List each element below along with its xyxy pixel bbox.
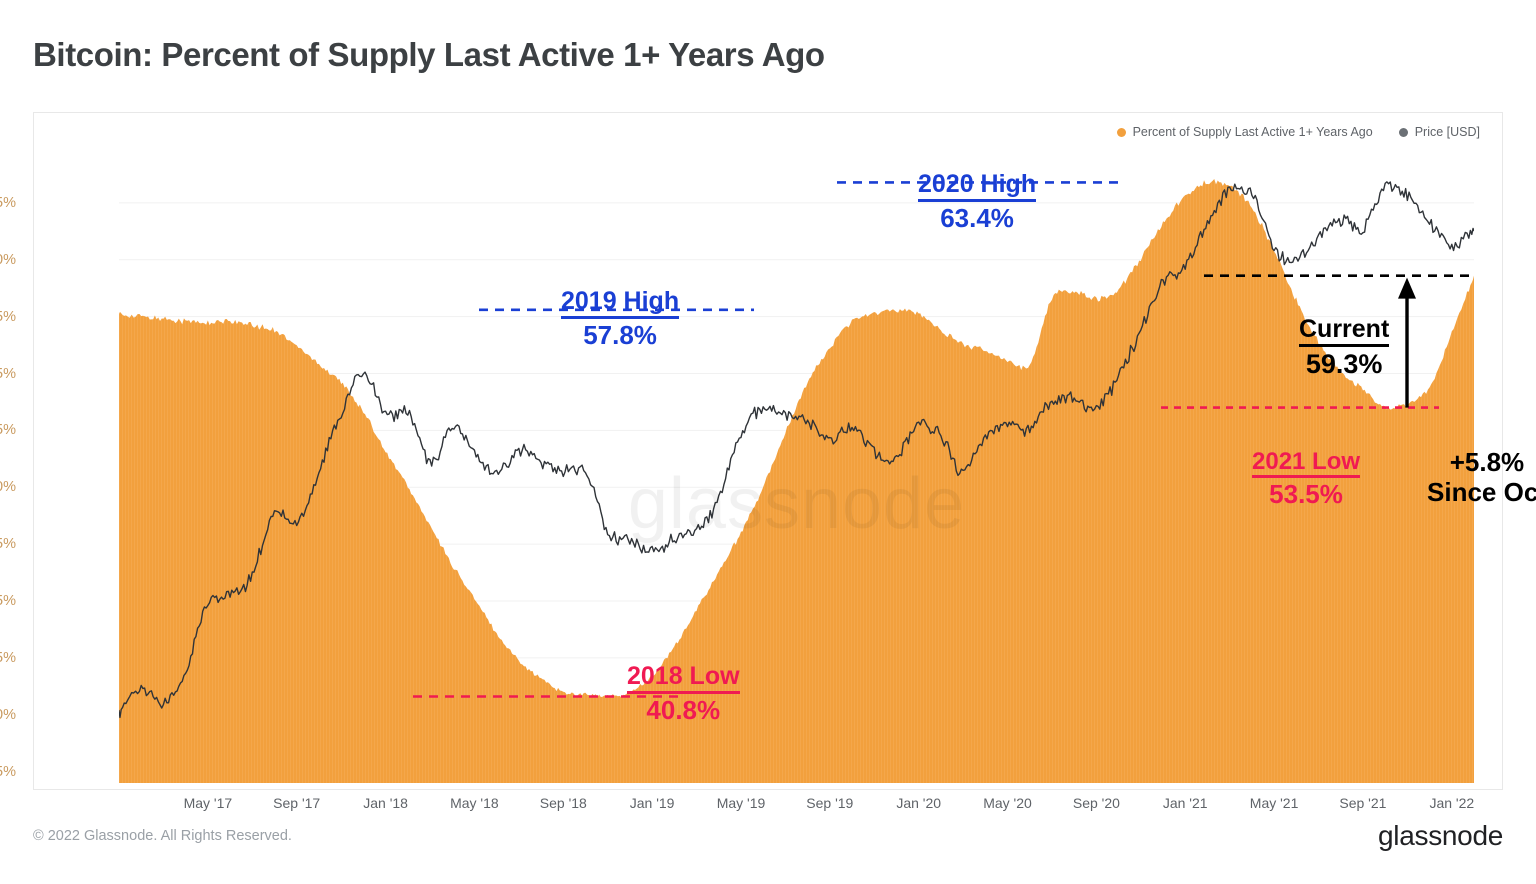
footer-copyright: © 2022 Glassnode. All Rights Reserved. bbox=[33, 828, 292, 844]
plot-inner bbox=[119, 171, 1474, 846]
x-axis-tick: May '18 bbox=[450, 795, 499, 811]
x-axis-tick: Jan '18 bbox=[363, 795, 408, 811]
chart-card: Percent of Supply Last Active 1+ Years A… bbox=[33, 112, 1503, 790]
x-axis-tick: Jan '22 bbox=[1429, 795, 1474, 811]
chart-page: Bitcoin: Percent of Supply Last Active 1… bbox=[0, 0, 1536, 884]
brand-logo: glassnode bbox=[1378, 820, 1503, 852]
x-axis-tick: May '21 bbox=[1250, 795, 1299, 811]
x-axis-tick: Sep '17 bbox=[273, 795, 320, 811]
x-axis-tick: Sep '21 bbox=[1339, 795, 1386, 811]
x-axis-tick: Jan '21 bbox=[1163, 795, 1208, 811]
x-axis-tick: Jan '19 bbox=[630, 795, 675, 811]
legend-label-supply: Percent of Supply Last Active 1+ Years A… bbox=[1133, 125, 1373, 139]
x-axis-tick: Sep '18 bbox=[540, 795, 587, 811]
x-axis-tick: May '20 bbox=[983, 795, 1032, 811]
plot-area: glassnode bbox=[119, 171, 1474, 846]
delta-arrow-icon bbox=[1398, 278, 1416, 408]
page-title: Bitcoin: Percent of Supply Last Active 1… bbox=[33, 36, 825, 74]
series-area-supply bbox=[119, 179, 1474, 783]
x-axis-tick: May '17 bbox=[184, 795, 233, 811]
x-axis-tick: May '19 bbox=[717, 795, 766, 811]
x-axis-tick: Jan '20 bbox=[896, 795, 941, 811]
circle-icon bbox=[1117, 128, 1126, 137]
chart-svg bbox=[119, 171, 1474, 846]
legend-label-price: Price [USD] bbox=[1415, 125, 1480, 139]
legend-item-price[interactable]: Price [USD] bbox=[1399, 125, 1480, 139]
circle-icon bbox=[1399, 128, 1408, 137]
chart-legend: Percent of Supply Last Active 1+ Years A… bbox=[1117, 125, 1480, 139]
x-axis-tick: Sep '20 bbox=[1073, 795, 1120, 811]
legend-item-supply[interactable]: Percent of Supply Last Active 1+ Years A… bbox=[1117, 125, 1373, 139]
x-axis-tick: Sep '19 bbox=[806, 795, 853, 811]
